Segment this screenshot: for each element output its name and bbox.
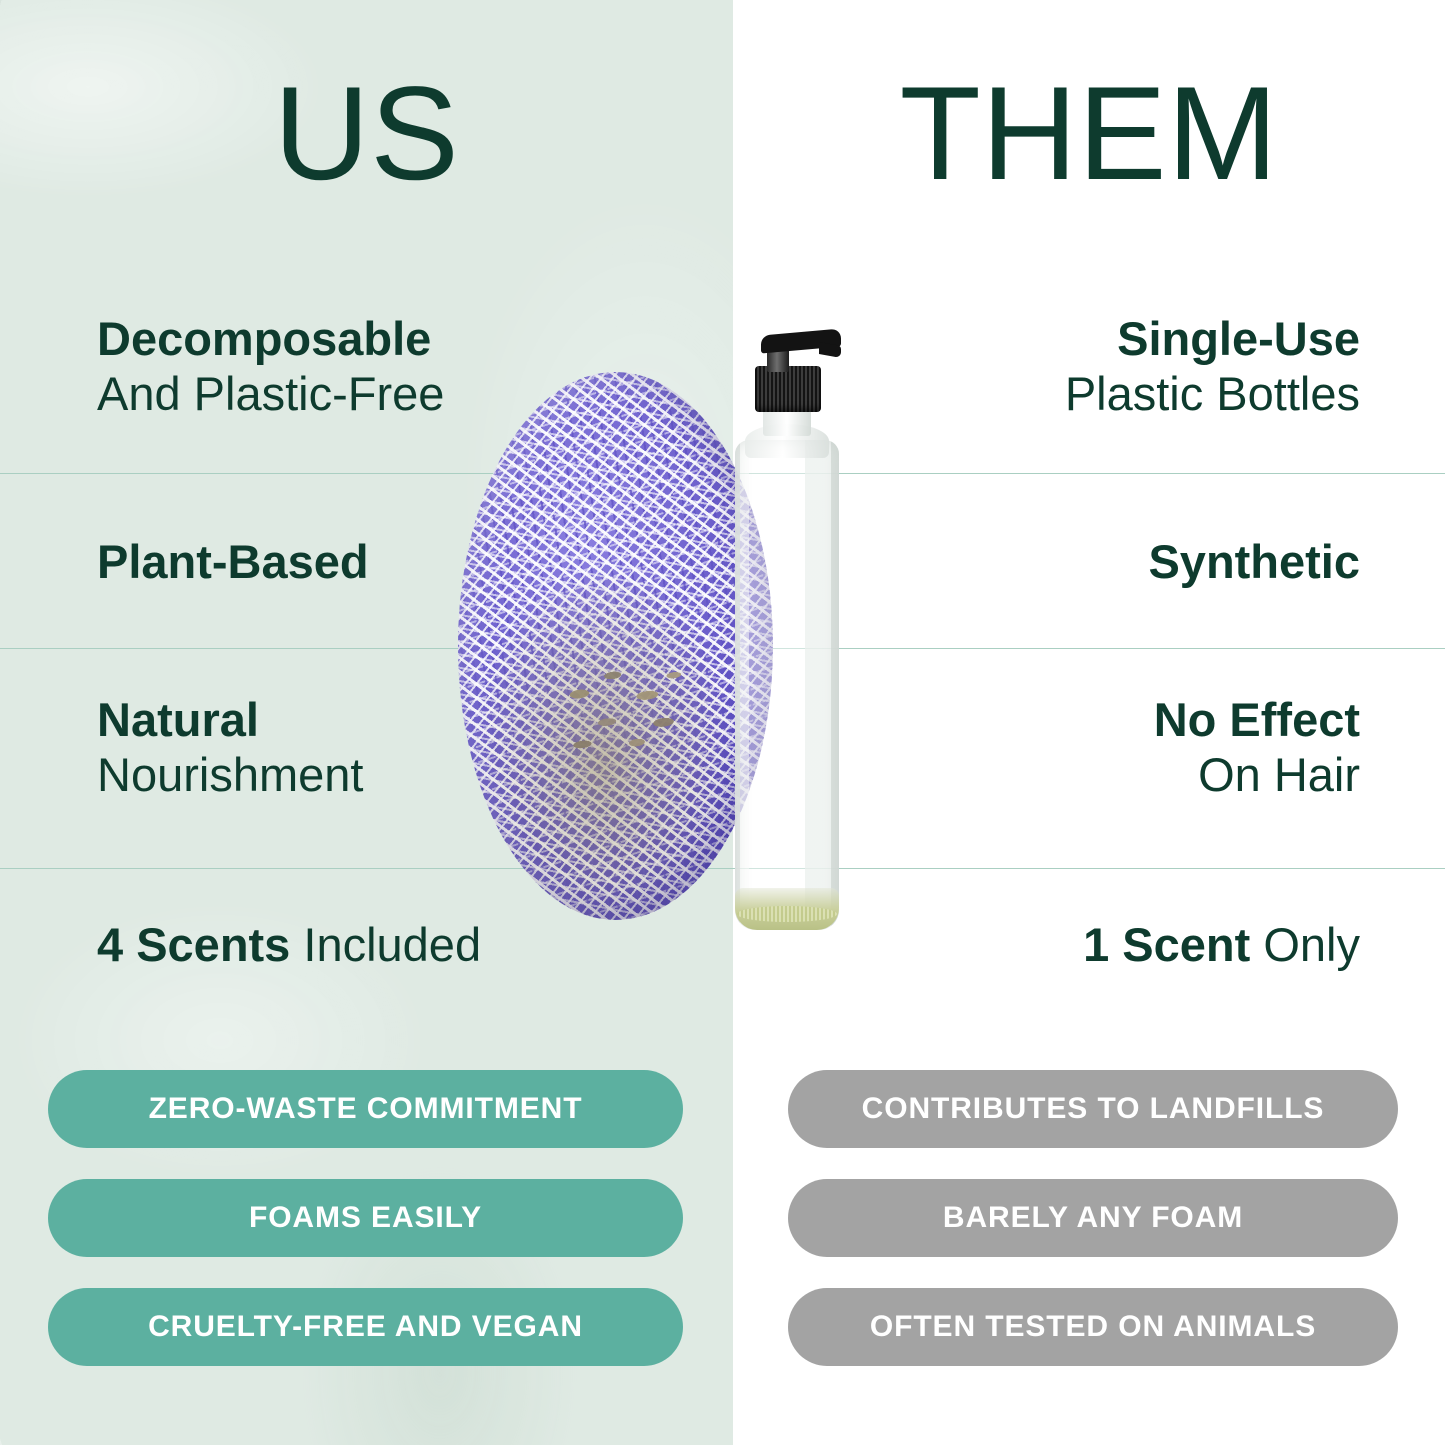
feature-title-light: Included [290, 918, 481, 971]
benefit-pill-cruelty-free[interactable]: CRUELTY-FREE AND VEGAN [48, 1288, 683, 1366]
row-divider-1 [0, 473, 1445, 474]
drawback-pill-barely-foam[interactable]: BARELY ANY FOAM [788, 1179, 1398, 1257]
feature-title-inline: 1 Scent Only [880, 918, 1360, 973]
feature-row-3-right: No Effect On Hair [880, 693, 1360, 802]
feature-title: No Effect [880, 693, 1360, 748]
feature-row-3-left: Natural Nourishment [97, 693, 567, 802]
feature-subtitle: Nourishment [97, 748, 567, 803]
drawback-pill-animal-tested[interactable]: OFTEN TESTED ON ANIMALS [788, 1288, 1398, 1366]
feature-row-2-left: Plant-Based [97, 535, 567, 590]
feature-title: Plant-Based [97, 535, 567, 590]
feature-row-1-left: Decomposable And Plastic-Free [97, 312, 567, 421]
feature-title-light: Only [1250, 918, 1360, 971]
feature-title: Single-Use [880, 312, 1360, 367]
feature-row-2-right: Synthetic [880, 535, 1360, 590]
benefit-pill-zero-waste[interactable]: ZERO-WASTE COMMITMENT [48, 1070, 683, 1148]
feature-title-strong: 4 Scents [97, 918, 290, 971]
comparison-infographic: US THEM Decomposable And Plastic-Free Si… [0, 0, 1445, 1445]
feature-row-1-right: Single-Use Plastic Bottles [880, 312, 1360, 421]
feature-subtitle: Plastic Bottles [880, 367, 1360, 422]
row-divider-3 [0, 868, 1445, 869]
feature-subtitle: On Hair [880, 748, 1360, 803]
row-divider-2 [0, 648, 1445, 649]
feature-row-4-right: 1 Scent Only [880, 918, 1360, 973]
drawback-pill-landfills[interactable]: CONTRIBUTES TO LANDFILLS [788, 1070, 1398, 1148]
benefit-pill-foams-easily[interactable]: FOAMS EASILY [48, 1179, 683, 1257]
feature-row-4-left: 4 Scents Included [97, 918, 567, 973]
heading-them: THEM [733, 68, 1445, 201]
feature-title: Synthetic [880, 535, 1360, 590]
feature-title-strong: 1 Scent [1083, 918, 1250, 971]
feature-title: Decomposable [97, 312, 567, 367]
feature-title-inline: 4 Scents Included [97, 918, 567, 973]
feature-title: Natural [97, 693, 567, 748]
feature-subtitle: And Plastic-Free [97, 367, 567, 422]
heading-us: US [0, 68, 733, 201]
